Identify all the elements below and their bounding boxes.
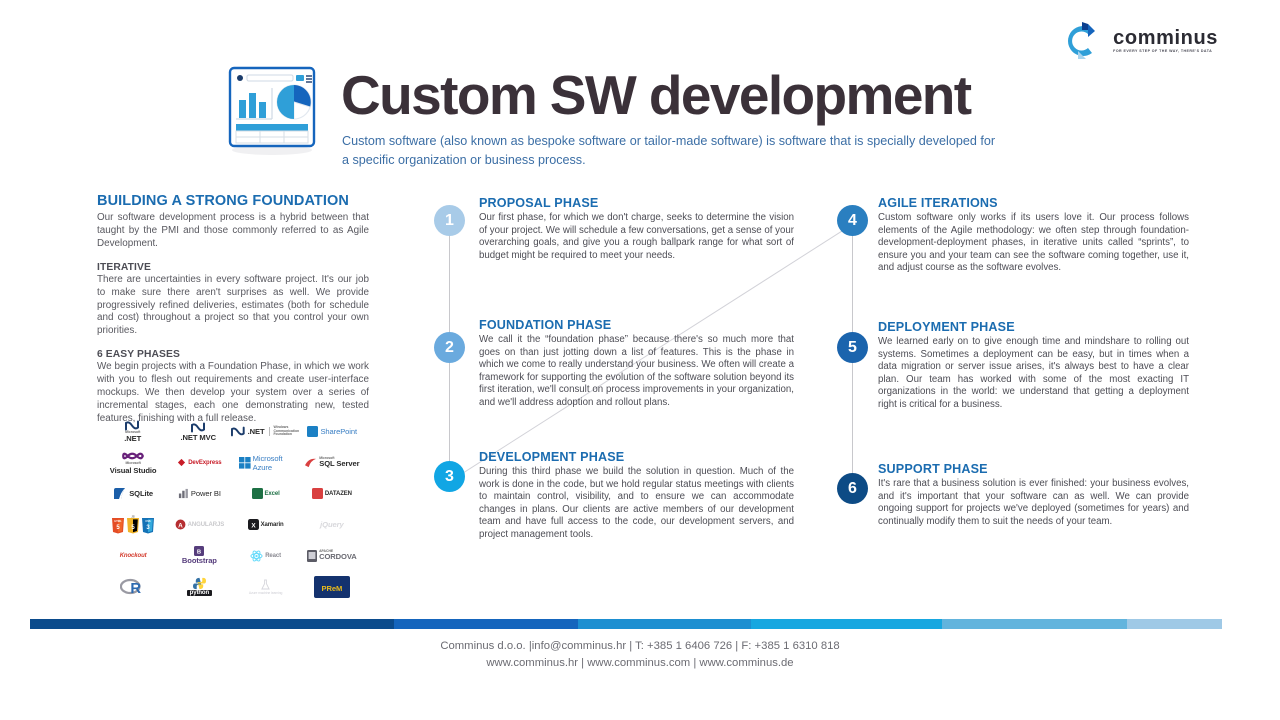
comminus-c-swirl-icon (1058, 18, 1104, 64)
visual-studio-label: Visual Studio (110, 466, 157, 475)
phase-title-1: PROPOSAL PHASE (479, 196, 794, 210)
react-label: React (265, 553, 281, 559)
bootstrap-logo: B Bootstrap (166, 540, 232, 571)
angularjs-logo: A ANGULARJS (166, 509, 232, 540)
sqlite-label: SQLite (129, 489, 153, 498)
jquery-label: jQuery (320, 520, 343, 529)
logo-row: Knockout B Bootstrap React APACHE (100, 540, 365, 571)
dotnet-wcf-suffix: Windows Communication Foundation (273, 426, 299, 436)
phase-title-4: AGILE ITERATIONS (878, 196, 1189, 210)
knockout-logo: Knockout (100, 540, 166, 571)
devexpress-label: DevExpress (188, 460, 221, 466)
logo-name: comminus (1113, 28, 1218, 48)
phase-number-badge-3: 3 (434, 461, 465, 492)
jquery-logo: jQuery (299, 509, 365, 540)
svg-text:B: B (197, 550, 201, 556)
xamarin-label: Xamarin (261, 522, 284, 528)
python-logo: python (166, 571, 232, 602)
apache-cordova-logo: APACHE CORDOVA (299, 540, 365, 571)
bootstrap-label: Bootstrap (182, 556, 217, 565)
svg-text:A: A (178, 522, 183, 529)
excel-label: Excel (265, 491, 280, 497)
dotnet-wcf-logo: .NET Windows Communication Foundation (231, 416, 300, 447)
logo-row: R python Azure machine learning PReM (100, 571, 365, 602)
phase-number-2: 2 (445, 339, 454, 357)
sharepoint-logo: SharePoint (300, 416, 365, 447)
phase-card-3: 3 DEVELOPMENT PHASE During this third ph… (434, 450, 794, 542)
prem-logo: PReM (299, 571, 365, 602)
angularjs-label: ANGULARJS (188, 522, 224, 528)
power-bi-label: Power BI (191, 489, 221, 498)
footer-bar-segment-2 (578, 619, 751, 629)
microsoft-azure-logo: Microsoft Azure (233, 447, 299, 478)
infographic-page: comminus FOR EVERY STEP OF THE WAY, THER… (0, 0, 1280, 720)
sqlite-logo: SQLite (100, 478, 166, 509)
svg-text:HTML: HTML (115, 519, 123, 523)
phase-card-5: 5 DEPLOYMENT PHASE We learned early on t… (837, 320, 1189, 412)
excel-logo: Excel (233, 478, 299, 509)
left-column-heading: BUILDING A STRONG FOUNDATION (97, 193, 369, 209)
footer-contact: Comminus d.o.o. |info@comminus.hr | T: +… (0, 638, 1280, 672)
left-section-label-1: 6 EASY PHASES (97, 349, 369, 360)
left-column-intro: Our software development process is a hy… (97, 212, 369, 251)
phase-number-badge-5: 5 (837, 332, 868, 363)
phase-text-2: We call it the “foundation phase” becaus… (479, 334, 794, 410)
technology-logo-grid: Microsoft .NET .NET MVC .NET Windows Com… (100, 416, 365, 602)
phase-text-5: We learned early on to give enough time … (878, 336, 1189, 412)
footer-bar-segment-5 (1127, 619, 1222, 629)
logo-row: SQLite Power BI Excel DATAZEN (100, 478, 365, 509)
phase-card-4: 4 AGILE ITERATIONS Custom software only … (837, 196, 1189, 275)
html5-css3-js-logo: 5HTML 5JS 3CSS (100, 509, 166, 540)
footer-contact-line-2: www.comminus.hr | www.comminus.com | www… (0, 655, 1280, 672)
logo-row: Microsoft .NET .NET MVC .NET Windows Com… (100, 416, 365, 447)
datazen-label: DATAZEN (325, 491, 352, 497)
footer-bar-segment-1 (394, 619, 579, 629)
phase-title-3: DEVELOPMENT PHASE (479, 450, 794, 464)
sql-server-label: SQL Server (319, 460, 359, 468)
logo-wordmark: comminus FOR EVERY STEP OF THE WAY, THER… (1113, 28, 1218, 54)
phase-number-6: 6 (848, 480, 857, 498)
dashboard-report-icon (218, 62, 326, 158)
phase-number-badge-4: 4 (837, 205, 868, 236)
phase-number-3: 3 (445, 468, 454, 486)
phase-card-1: 1 PROPOSAL PHASE Our first phase, for wh… (434, 196, 794, 262)
page-title: Custom SW development (341, 63, 971, 127)
phase-text-4: Custom software only works if its users … (878, 212, 1189, 275)
phase-number-5: 5 (848, 339, 857, 357)
svg-text:JS: JS (132, 515, 135, 519)
react-logo: React (233, 540, 299, 571)
xamarin-logo: X Xamarin (233, 509, 299, 540)
dotnet-mvc-label: .NET MVC (180, 433, 215, 442)
page-subtitle: Custom software (also known as bespoke s… (342, 132, 1002, 170)
dotnet-label: .NET (124, 434, 141, 443)
footer-bar-segment-4 (942, 619, 1127, 629)
dotnet-mvc-logo: .NET MVC (165, 416, 230, 447)
phase-number-4: 4 (848, 212, 857, 230)
azure-machine-learning-logo: Azure machine learning (233, 571, 299, 602)
footer-contact-line-1: Comminus d.o.o. |info@comminus.hr | T: +… (0, 638, 1280, 655)
sharepoint-label: SharePoint (320, 427, 357, 436)
logo-tagline: FOR EVERY STEP OF THE WAY, THERE'S DATA (1113, 50, 1218, 54)
python-label: python (187, 590, 212, 596)
knockout-label: Knockout (120, 553, 147, 559)
svg-text:X: X (251, 522, 256, 529)
prem-label: PReM (322, 584, 343, 593)
logo-row: Microsoft Visual Studio DevExpress Micro… (100, 447, 365, 478)
phase-card-6: 6 SUPPORT PHASE It's rare that a busines… (837, 462, 1189, 528)
r-project-logo: R (100, 571, 166, 602)
phase-title-6: SUPPORT PHASE (878, 462, 1189, 476)
datazen-logo: DATAZEN (299, 478, 365, 509)
dotnet-logo: Microsoft .NET (100, 416, 165, 447)
cordova-label: CORDOVA (319, 553, 357, 561)
microsoft-azure-label: Microsoft Azure (253, 454, 293, 472)
power-bi-logo: Power BI (166, 478, 232, 509)
phase-number-badge-2: 2 (434, 332, 465, 363)
comminus-logo: comminus FOR EVERY STEP OF THE WAY, THER… (1058, 18, 1218, 64)
svg-text:R: R (131, 581, 142, 596)
phase-text-3: During this third phase we build the sol… (479, 466, 794, 542)
visual-studio-logo: Microsoft Visual Studio (100, 447, 166, 478)
logo-row: 5HTML 5JS 3CSS A ANGULARJS X Xamarin jQu… (100, 509, 365, 540)
devexpress-logo: DevExpress (166, 447, 232, 478)
phase-number-1: 1 (445, 212, 454, 230)
phase-number-badge-6: 6 (837, 473, 868, 504)
left-column: BUILDING A STRONG FOUNDATION Our softwar… (97, 193, 369, 426)
phase-card-2: 2 FOUNDATION PHASE We call it the “found… (434, 318, 794, 410)
footer-color-bar (30, 619, 1222, 629)
sql-server-logo: Microsoft SQL Server (299, 447, 365, 478)
dotnet-wcf-label: .NET (248, 427, 265, 436)
phase-text-6: It's rare that a business solution is ev… (878, 478, 1189, 528)
phase-text-1: Our first phase, for which we don't char… (479, 212, 794, 262)
left-section-text-0: There are uncertainties in every softwar… (97, 274, 369, 339)
phase-number-badge-1: 1 (434, 205, 465, 236)
azure-ml-label: Azure machine learning (249, 591, 282, 595)
left-section-label-0: ITERATIVE (97, 262, 369, 273)
footer-bar-segment-3 (751, 619, 942, 629)
footer-bar-segment-0 (30, 619, 394, 629)
svg-text:CSS: CSS (145, 519, 151, 523)
phase-title-2: FOUNDATION PHASE (479, 318, 794, 332)
phase-title-5: DEPLOYMENT PHASE (878, 320, 1189, 334)
